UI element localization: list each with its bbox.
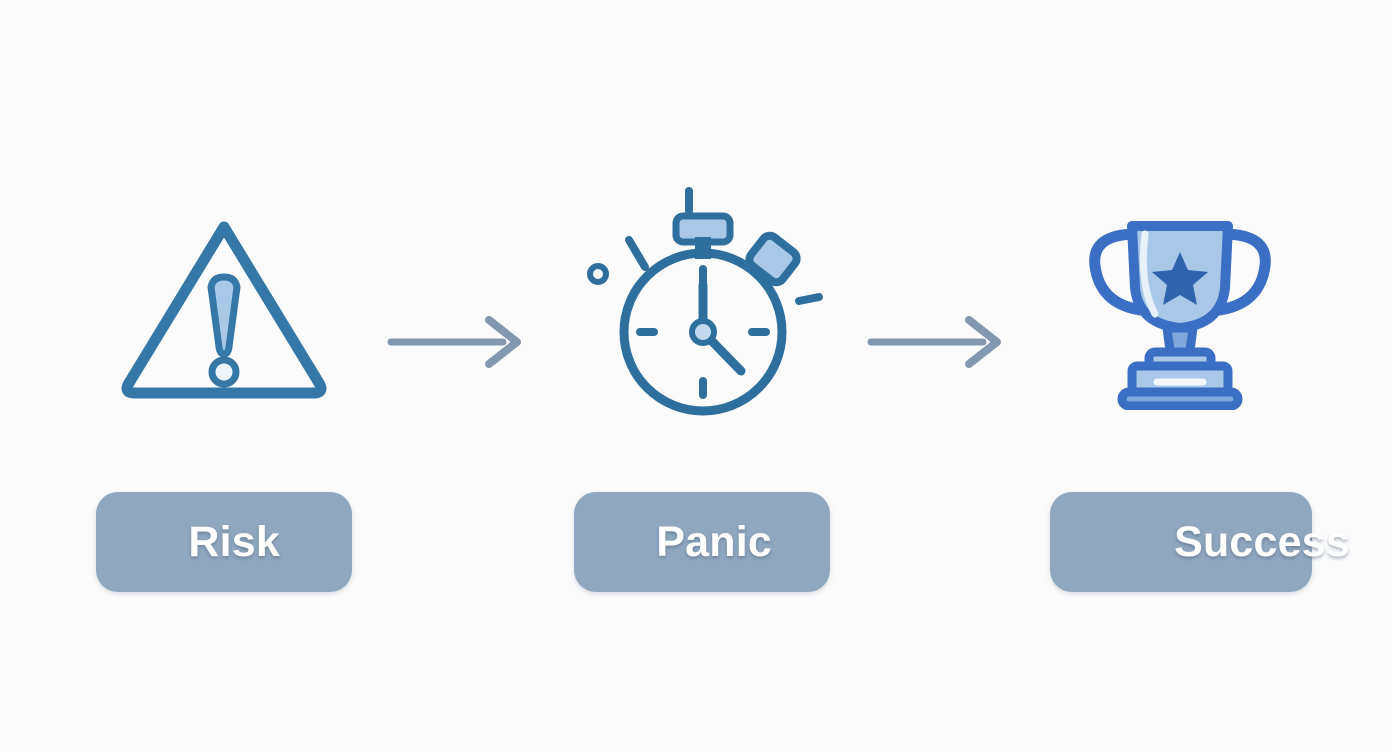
stopwatch-hub <box>692 321 714 343</box>
step-label-pill-risk[interactable]: Risk <box>96 492 352 592</box>
step-label-pill-panic[interactable]: Panic <box>574 492 830 592</box>
arrow-risk-to-panic <box>385 312 535 372</box>
arrow-right-icon <box>385 312 535 372</box>
warning-triangle-icon-slot <box>74 170 374 440</box>
step-label-success: Success <box>1174 521 1350 564</box>
stopwatch-icon-slot <box>552 170 852 440</box>
step-label-pill-success[interactable]: Success <box>1050 492 1312 592</box>
trophy-icon-slot <box>1030 170 1330 440</box>
stopwatch-spark-diagonal <box>629 240 645 267</box>
stopwatch-spark-right <box>799 297 819 301</box>
flow-step-risk: Risk <box>74 0 374 752</box>
trophy-icon <box>1075 200 1285 410</box>
stopwatch-icon <box>567 175 837 435</box>
flow-step-success: Success <box>1030 0 1330 752</box>
step-label-panic: Panic <box>656 521 772 564</box>
arrow-right-icon <box>865 312 1015 372</box>
step-label-risk: Risk <box>188 521 280 564</box>
stopwatch-spark-circle <box>590 266 606 282</box>
arrow-panic-to-success <box>865 312 1015 372</box>
flow-diagram: Risk <box>0 0 1392 752</box>
warning-triangle-icon <box>109 205 339 405</box>
trophy-base-plinth <box>1122 392 1238 406</box>
flow-step-panic: Panic <box>552 0 852 752</box>
